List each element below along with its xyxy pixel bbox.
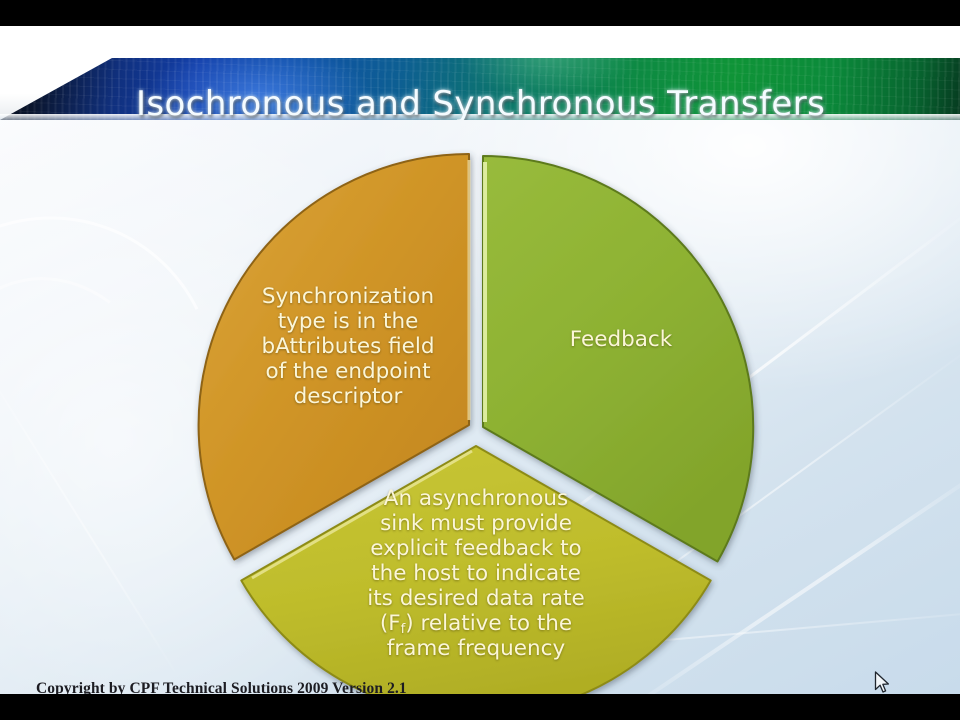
background-swirl-icon <box>0 254 205 604</box>
mouse-pointer-icon <box>874 671 890 694</box>
background-streak <box>0 326 183 683</box>
copyright-notice: Copyright by CPF Technical Solutions 200… <box>36 680 407 694</box>
letterbox-bottom-bar <box>0 694 960 720</box>
pie-chart: Synchronization type is in the bAttribut… <box>186 130 766 694</box>
letterbox-top-bar <box>0 0 960 26</box>
video-player-frame: Isochronous and Synchronous Transfers <box>0 0 960 720</box>
slide-header-banner: Isochronous and Synchronous Transfers <box>0 26 960 120</box>
slide-canvas: Isochronous and Synchronous Transfers <box>0 26 960 694</box>
page-title: Isochronous and Synchronous Transfers <box>136 81 926 120</box>
